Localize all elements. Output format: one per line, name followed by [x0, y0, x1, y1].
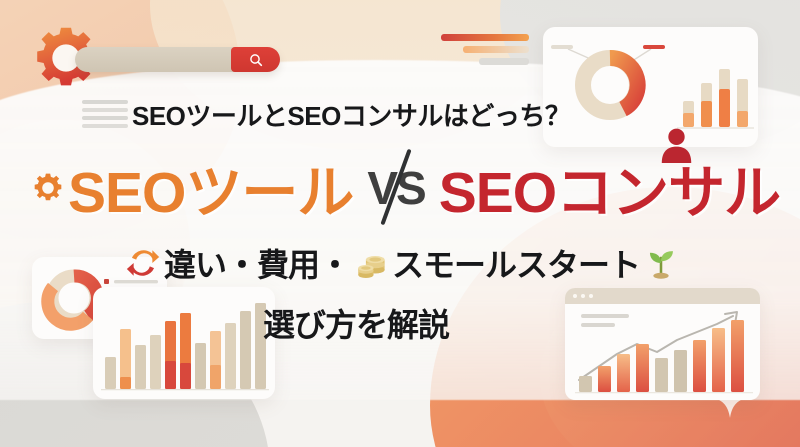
poster-canvas: SEOツールとSEOコンサルはどっち？ SEOツール VS SEOコンサル [0, 0, 800, 447]
title-left-label: SEOツール [68, 147, 353, 229]
subtitle-text-2: スモールスタート [392, 240, 640, 286]
bar-chart [93, 287, 275, 399]
eyebrow-heading: SEOツールとSEOコンサルはどっち？ [132, 96, 570, 133]
search-input[interactable] [75, 47, 280, 72]
main-title: SEOツール VS SEOコンサル [30, 152, 775, 224]
coin-stack-icon [354, 246, 388, 280]
browser-titlebar [565, 288, 760, 304]
gear-icon [30, 170, 66, 206]
subtitle-text-1: 違い・費用・ [164, 240, 350, 286]
title-right-label: SEOコンサル [439, 147, 780, 229]
donut-bar-chart [543, 27, 758, 147]
decor-line-peach [463, 46, 529, 53]
decor-mini-lines [82, 100, 128, 132]
decor-lines-group [441, 34, 529, 70]
browser-dot [581, 294, 585, 298]
subtitle-line-2: 選び方を解説 [263, 300, 449, 346]
versus-badge: VS [367, 161, 424, 215]
decor-line-gray [479, 58, 529, 65]
seedling-icon [644, 246, 678, 280]
decor-mini-line [82, 116, 128, 120]
decor-line-gradient [441, 34, 529, 41]
chart-card-browser [565, 288, 760, 400]
search-button[interactable] [231, 47, 280, 72]
trend-bar-chart [565, 304, 760, 400]
chart-card-donut-bars [543, 27, 758, 147]
arrows-counterclockwise-icon [126, 246, 160, 280]
decor-mini-line [82, 100, 128, 104]
search-widget [30, 22, 280, 97]
decor-mini-line [82, 124, 128, 128]
browser-dot [589, 294, 593, 298]
browser-dot [573, 294, 577, 298]
decor-mini-line [82, 108, 128, 112]
search-icon [248, 52, 264, 68]
chart-card-bars [93, 287, 275, 399]
subtitle-line-1: 違い・費用・ スモールスタート [126, 240, 678, 286]
